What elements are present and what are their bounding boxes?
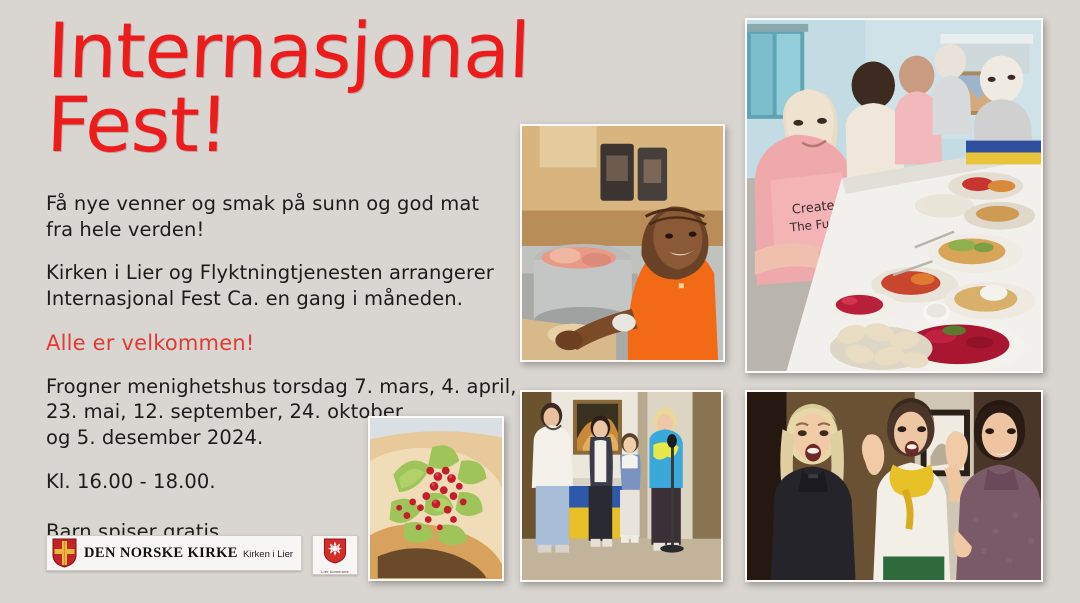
dates-line-1: Frogner menighetshus torsdag 7. mars, 4.… [46, 374, 516, 400]
logo-den-norske-kirke: DEN NORSKE KIRKE Kirken i Lier [46, 535, 302, 571]
photo-buffet-table: Create The Future [745, 18, 1043, 373]
organizer-line-1: Kirken i Lier og Flyktningtjenesten arra… [46, 260, 516, 286]
logo-row: DEN NORSKE KIRKE Kirken i Lier [46, 535, 358, 575]
photo-performance-group [520, 390, 723, 582]
photo-kitchen-volunteer [520, 124, 725, 362]
lier-logo-caption: Lier kommune [321, 569, 349, 574]
intro-line-2: fra hele verden! [46, 217, 516, 243]
organizer-paragraph: Kirken i Lier og Flyktningtjenesten arra… [46, 260, 516, 311]
church-logo-title: DEN NORSKE KIRKE [84, 545, 238, 561]
page-title: Internasjonal Fest! [43, 14, 518, 163]
headline-line-2: Fest! [45, 88, 516, 162]
church-shield-icon [52, 538, 77, 568]
lier-shield-icon [323, 538, 347, 568]
church-logo-subtitle: Kirken i Lier [243, 549, 293, 560]
logo-lier-kommune: Lier kommune [312, 535, 358, 575]
intro-paragraph: Få nye venner og smak på sunn og god mat… [46, 191, 516, 242]
poster: Internasjonal Fest! Få nye venner og sma… [0, 0, 1080, 603]
welcome-message: Alle er velkommen! [46, 330, 516, 358]
photo-singing-women [745, 390, 1043, 582]
church-logo-text: DEN NORSKE KIRKE Kirken i Lier [84, 544, 293, 561]
photo-garnished-dish [368, 416, 504, 581]
headline-line-1: Internasjonal [46, 14, 519, 88]
intro-line-1: Få nye venner og smak på sunn og god mat [46, 191, 516, 217]
organizer-line-2: Internasjonal Fest Ca. en gang i måneden… [46, 286, 516, 312]
